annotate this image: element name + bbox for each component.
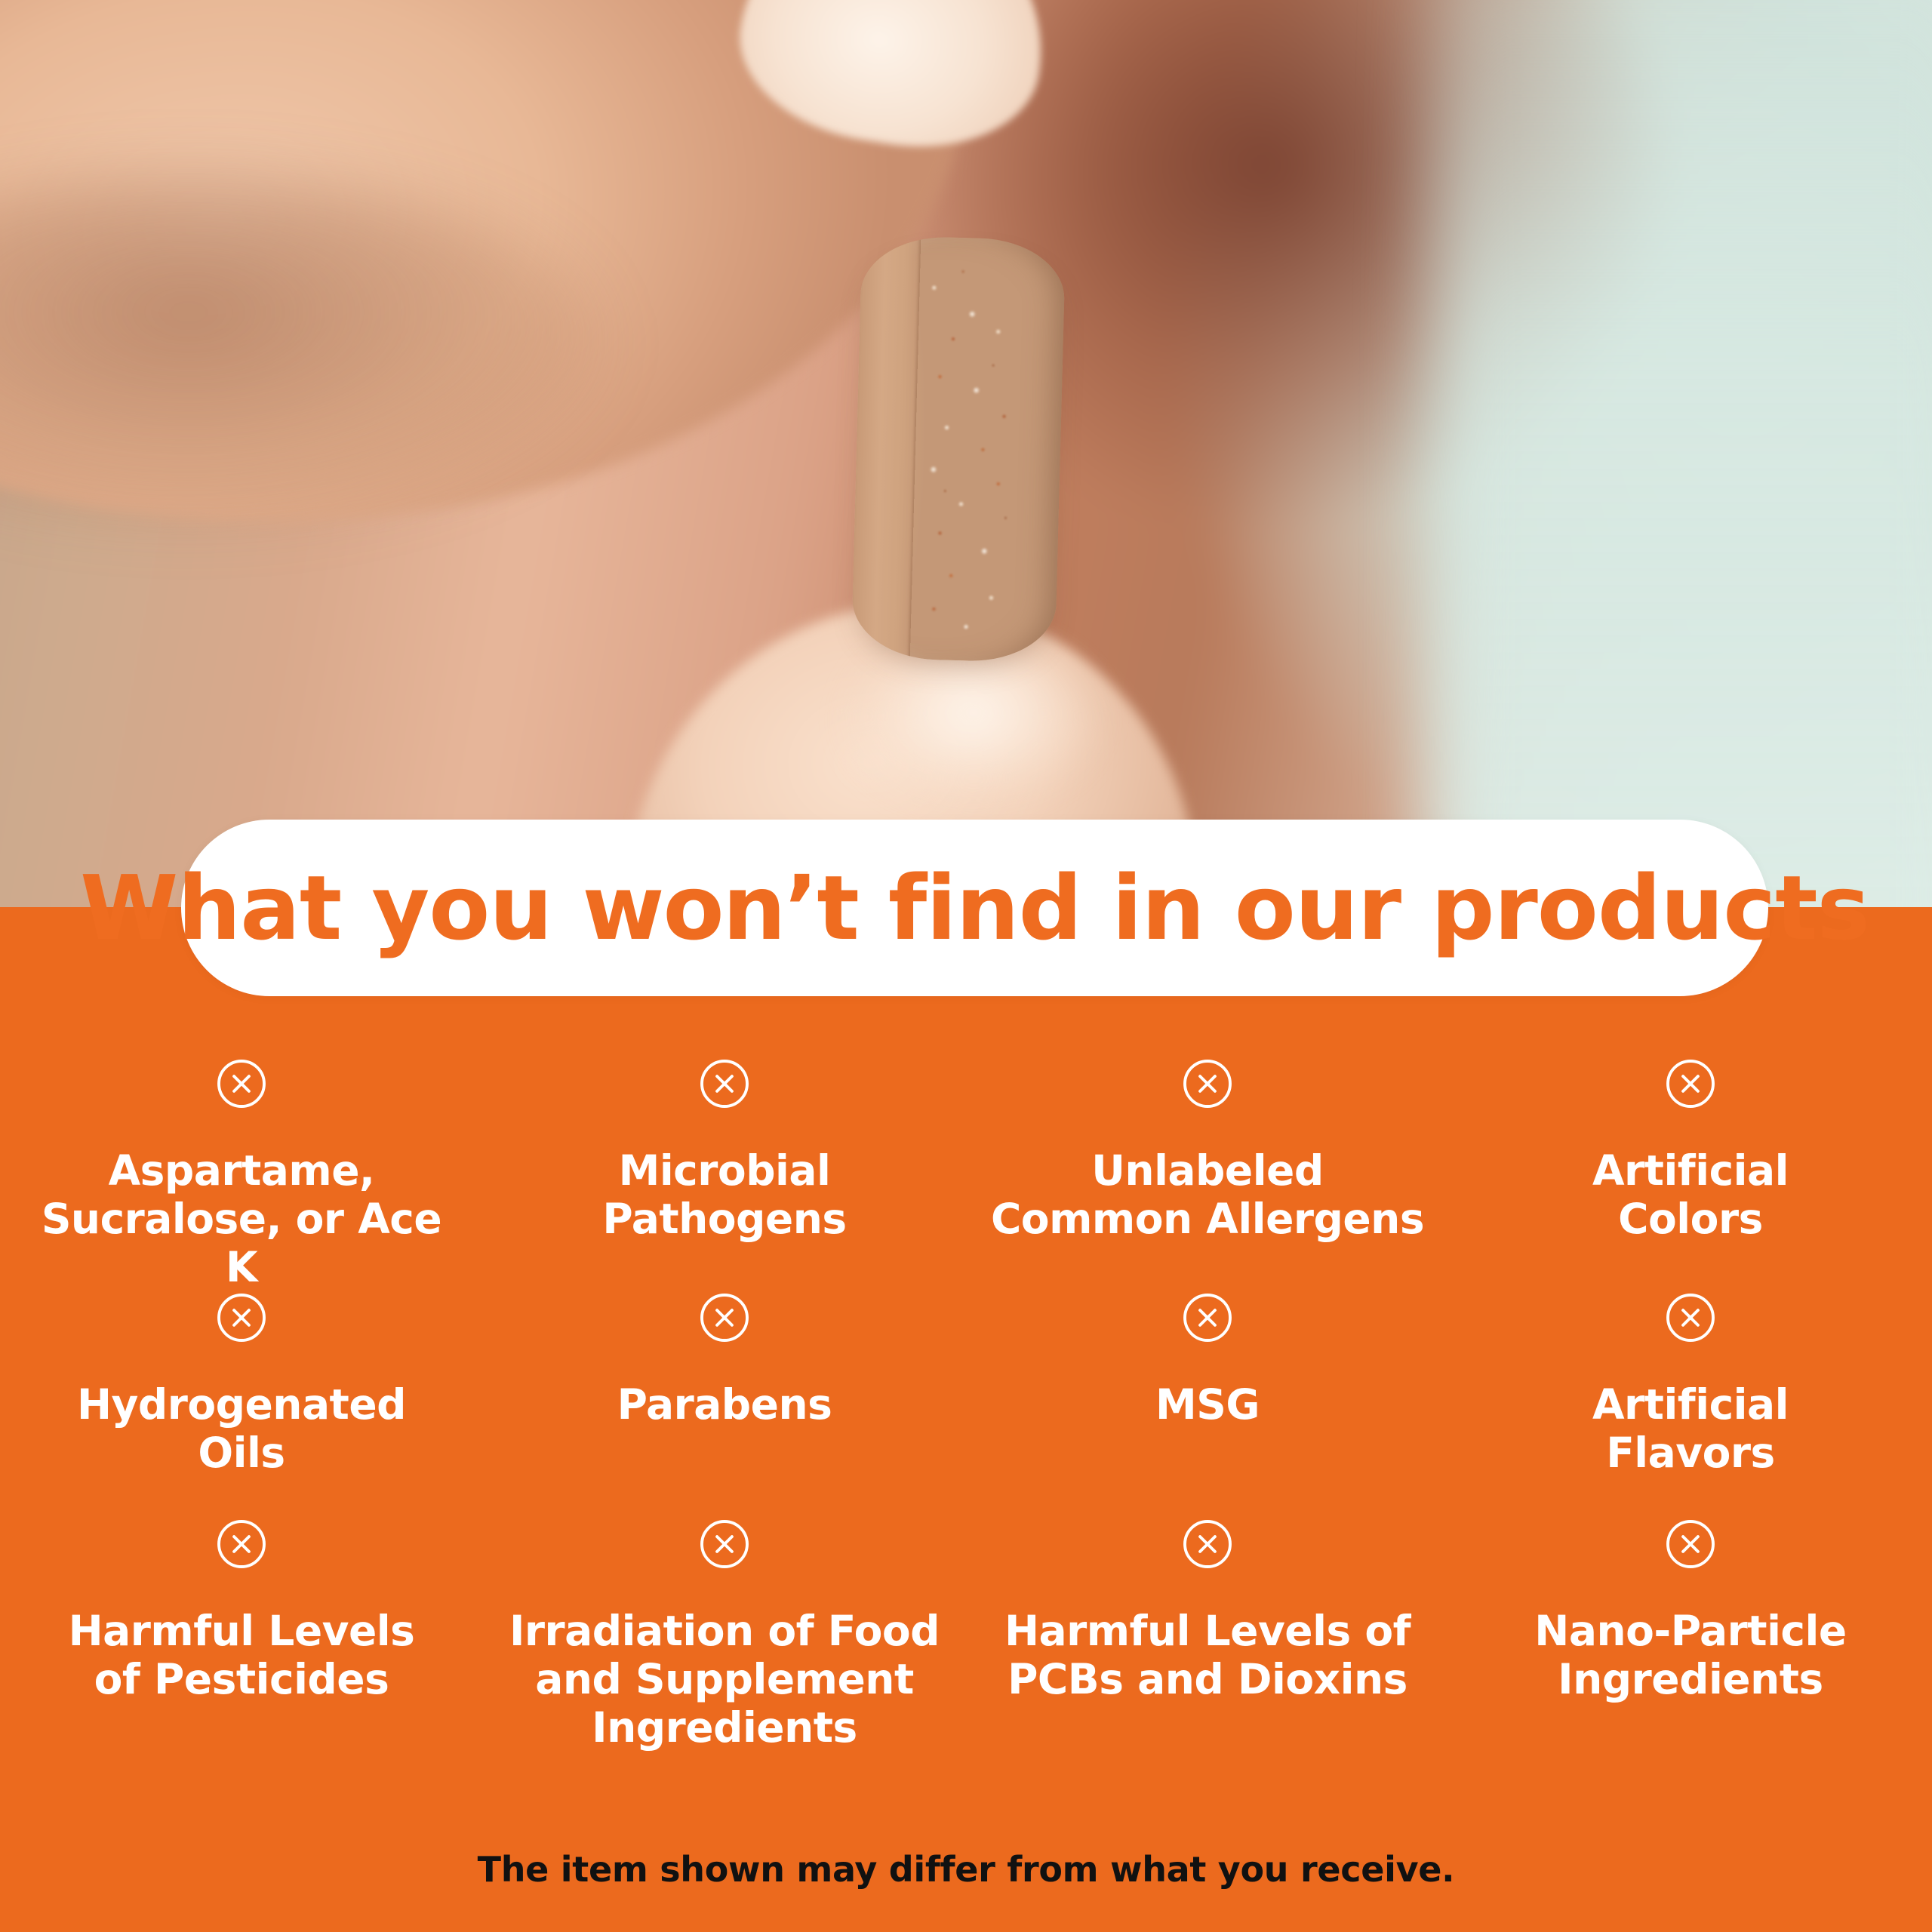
claim-label: Microbial Pathogens [602,1147,846,1244]
claims-grid-row-3: Harmful Levels of Pesticides Irradiation… [0,1517,1932,1743]
title-part-2: find in our products [858,856,1869,960]
claims-panel: Aspartame, Sucralose, or Ace K Microbial… [0,907,1932,1932]
claim-label: Harmful Levels of PCBs and Dioxins [1004,1607,1411,1704]
claim-label: MSG [1155,1381,1260,1429]
claim-item: Parabens [483,1291,966,1517]
circle-x-icon [214,1517,269,1571]
circle-x-icon [214,1057,269,1111]
claim-item: Artificial Colors [1449,1057,1932,1291]
claim-item: Harmful Levels of Pesticides [0,1517,483,1743]
claim-item: Harmful Levels of PCBs and Dioxins [966,1517,1449,1743]
claim-item: Nano-Particle Ingredients [1449,1517,1932,1743]
supplement-tablet [851,235,1066,663]
circle-x-icon [697,1517,752,1571]
finger-highlight [853,641,1094,800]
title-banner: What you won’t find in our products [181,820,1768,996]
claim-item: Microbial Pathogens [483,1057,966,1291]
product-claims-graphic: Aspartame, Sucralose, or Ace K Microbial… [0,0,1932,1932]
claim-item: MSG [966,1291,1449,1517]
circle-x-icon [1180,1057,1235,1111]
circle-x-icon [1180,1291,1235,1345]
claim-label: Irradiation of Food and Supplement Ingre… [509,1607,940,1752]
circle-x-icon [1180,1517,1235,1571]
claim-item: Unlabeled Common Allergens [966,1057,1449,1291]
circle-x-icon [697,1057,752,1111]
page-title: What you won’t find in our products [80,863,1869,952]
circle-x-icon [214,1291,269,1345]
claims-grid-row-2: Hydrogenated Oils Parabens MSG Artificia… [0,1291,1932,1517]
circle-x-icon [1663,1057,1718,1111]
claim-label: Harmful Levels of Pesticides [69,1607,415,1704]
claim-label: Artificial Colors [1592,1147,1789,1244]
claim-item: Hydrogenated Oils [0,1291,483,1517]
hero-photo [0,0,1932,909]
claim-label: Aspartame, Sucralose, or Ace K [21,1147,462,1291]
title-emphasis: won’t [582,856,857,960]
title-part-1: What you [80,856,582,960]
claim-item: Irradiation of Food and Supplement Ingre… [483,1517,966,1743]
claim-label: Parabens [617,1381,832,1429]
circle-x-icon [1663,1291,1718,1345]
claim-label: Nano-Particle Ingredients [1534,1607,1846,1704]
claim-item: Aspartame, Sucralose, or Ace K [0,1057,483,1291]
circle-x-icon [1663,1517,1718,1571]
disclaimer-text: The item shown may differ from what you … [0,1849,1932,1890]
claim-label: Unlabeled Common Allergens [991,1147,1424,1244]
photo-mint-wash [1434,0,1932,909]
circle-x-icon [697,1291,752,1345]
claim-label: Artificial Flavors [1592,1381,1789,1478]
tablet-speckles [851,235,1066,663]
claim-item: Artificial Flavors [1449,1291,1932,1517]
claims-grid-row-1: Aspartame, Sucralose, or Ace K Microbial… [0,1057,1932,1291]
claim-label: Hydrogenated Oils [77,1381,406,1478]
